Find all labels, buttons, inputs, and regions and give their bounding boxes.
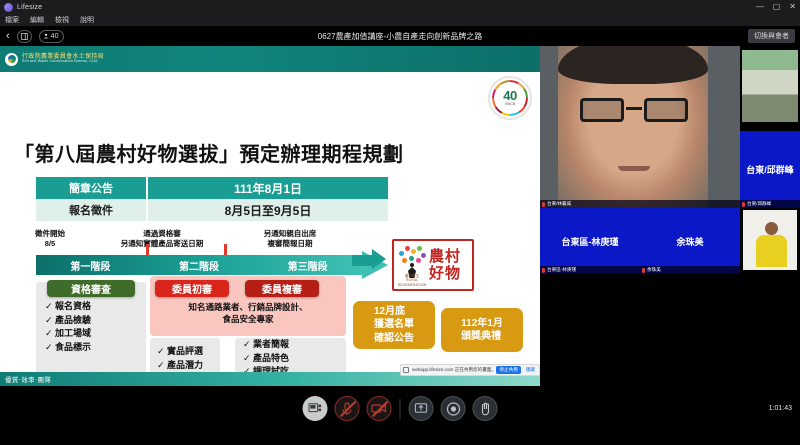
reviewer-description: 知名通路業者、行銷品牌設計、 食品安全專家 (152, 301, 344, 326)
participant-label: 台東/邱群峰 (740, 200, 800, 208)
outcome-box: 12月底 獲選名單 確認公告 (353, 301, 435, 349)
present-button[interactable] (303, 396, 328, 421)
video-tile-main[interactable]: 台東/林襄威 (540, 46, 740, 208)
window-controls[interactable]: — ▢ ✕ (756, 2, 796, 11)
presentation-slide: 行政院農業委員會水土保持局 Soil and Water Conservatio… (0, 46, 540, 386)
participant-name: 台東/林襄威 (547, 201, 571, 207)
row-value: 111年8月1日 (146, 177, 388, 199)
share-screen-button[interactable] (409, 396, 434, 421)
share-screen-icon (403, 367, 409, 373)
participant-label: 余珠美 (640, 266, 740, 274)
mic-muted-icon (742, 202, 745, 207)
participant-name-large: 余珠美 (640, 208, 740, 274)
outcome-box: 112年1月 頒獎典禮 (441, 308, 523, 352)
swcb-emblem-icon (5, 53, 18, 66)
participant-name: 余珠美 (647, 267, 661, 273)
meeting-title: 0627農產加值講座-小農自產走向創新品牌之路 (0, 31, 800, 42)
participant-hair (558, 46, 708, 84)
maximize-icon[interactable]: ▢ (773, 2, 781, 11)
mic-muted-icon (542, 202, 545, 207)
lifesize-app-window: Lifesize — ▢ ✕ 檔案 編輯 檢視 說明 ‹ 40 0627農產 (0, 0, 800, 445)
participant-count-chip[interactable]: 40 (39, 30, 65, 43)
participant-name-large: 台東/邱群峰 (740, 131, 800, 208)
stage-label: 第三階段 (253, 255, 362, 275)
participant-name: 台東區-林庚瑾 (547, 267, 576, 273)
video-tile-top-right[interactable] (740, 46, 800, 131)
participant-label: 台東區-林庚瑾 (540, 266, 640, 274)
toolbar-divider (400, 399, 401, 419)
participant-label: 台東/林襄威 (540, 200, 740, 208)
menu-item-view[interactable]: 檢視 (55, 15, 69, 25)
record-button[interactable] (441, 396, 466, 421)
stage-label: 第二階段 (145, 255, 254, 275)
row-label: 報名徵件 (36, 199, 146, 221)
stage1-pill: 資格審查 (47, 280, 135, 297)
logo-tree-icon: 農村再生 RURAL REGENERATION (397, 243, 427, 287)
title-bar: Lifesize — ▢ ✕ (0, 0, 800, 14)
stage-progress-arrow: 第一階段 第二階段 第三階段 (36, 255, 388, 275)
mute-camera-button[interactable] (367, 396, 392, 421)
video-tile-bottom-2[interactable]: 余珠美 余珠美 (640, 208, 740, 274)
slide-footer-text: 優質‧效率‧團隊 (5, 374, 51, 384)
stage-label: 第一階段 (36, 255, 145, 275)
stage1-checklist: ✓ 報名資格 ✓ 產品檢驗 ✓ 加工場域 ✓ 食品標示 (45, 300, 91, 355)
participant-name: 台東/邱群峰 (747, 201, 771, 207)
menu-item-help[interactable]: 說明 (80, 15, 94, 25)
mic-muted-icon (542, 268, 545, 273)
sdgs-number: 40 (503, 89, 516, 102)
shared-screen-region[interactable]: 行政院農業委員會水土保持局 Soil and Water Conservatio… (0, 46, 540, 386)
participant-video (743, 210, 797, 270)
chevron-left-icon[interactable]: ‹ (6, 31, 10, 42)
participant-name-large: 台東區-林庚瑾 (540, 208, 640, 274)
stage3-pill: 委員複審 (245, 280, 319, 297)
table-row: 報名徵件 8月5日至9月5日 (36, 199, 388, 221)
screen-share-notice[interactable]: webapp.lifesize.com 正在共用您的畫面。 停止共用 隱藏 (400, 364, 540, 376)
video-tile-bottom-1[interactable]: 台東區-林庚瑾 台東區-林庚瑾 (540, 208, 640, 274)
slide-title: 「第八屆農村好物選拔」預定辦理期程規劃 (14, 138, 404, 167)
stage2-checklist: ✓ 實品評選 ✓ 產品潛力 (157, 345, 203, 372)
layout-icon[interactable] (17, 30, 32, 43)
table-row: 簡章公告 111年8月1日 (36, 177, 388, 199)
menu-item-edit[interactable]: 編輯 (30, 15, 44, 25)
slide-org-header: 行政院農業委員會水土保持局 Soil and Water Conservatio… (0, 46, 540, 72)
participant-video (742, 50, 798, 122)
video-tile-name-2[interactable]: 台東/邱群峰 台東/邱群峰 (740, 131, 800, 208)
mute-mic-button[interactable] (335, 396, 360, 421)
call-timer: 1:01:43 (769, 405, 792, 412)
logo-caption: 農村再生 RURAL REGENERATION (397, 274, 427, 287)
logo-line2: 好物 (429, 266, 461, 281)
participant-mouth (618, 166, 650, 171)
menu-item-file[interactable]: 檔案 (5, 15, 19, 25)
row-label: 簡章公告 (36, 177, 146, 199)
stage2-pill: 委員初審 (155, 280, 229, 297)
share-notice-text: webapp.lifesize.com 正在共用您的畫面。 (412, 367, 493, 373)
logo-line1: 農村 (429, 249, 461, 264)
sdgs-sub: SWCB (503, 103, 516, 106)
app-title: Lifesize (17, 4, 42, 11)
close-icon[interactable]: ✕ (789, 2, 796, 11)
video-tile-bottom-3[interactable] (740, 208, 800, 274)
rural-goods-logo: 農村再生 RURAL REGENERATION 農村 好物 (392, 239, 474, 291)
participant-grid: 台東/林襄威 台東/邱群峰 台東/邱群峰 台東區-林庚瑾 台東區-林庚瑾 余珠美 (540, 46, 800, 386)
mic-muted-icon (642, 268, 645, 273)
glasses-icon (580, 98, 688, 122)
switch-participant-button[interactable]: 切換與會者 (748, 29, 795, 43)
org-title-en: Soil and Water Conservation Bureau, COA (22, 60, 104, 64)
raise-hand-button[interactable] (473, 396, 498, 421)
minimize-icon[interactable]: — (756, 2, 764, 11)
sdgs-anniversary-badge: 40 SWCB (488, 76, 532, 120)
participant-count: 40 (51, 33, 59, 40)
menu-bar: 檔案 編輯 檢視 說明 (0, 14, 800, 26)
row-value: 8月5日至9月5日 (146, 199, 388, 221)
lifesize-logo-icon (4, 3, 13, 12)
meeting-nav-bar: ‹ 40 0627農產加值講座-小農自產走向創新品牌之路 (0, 26, 800, 46)
stop-sharing-button[interactable]: 停止共用 (496, 366, 520, 374)
hide-notice-button[interactable]: 隱藏 (524, 366, 537, 374)
schedule-table: 簡章公告 111年8月1日 報名徵件 8月5日至9月5日 (36, 177, 388, 221)
call-toolbar: 1:01:43 苗栗區農業改良場 (0, 386, 800, 445)
